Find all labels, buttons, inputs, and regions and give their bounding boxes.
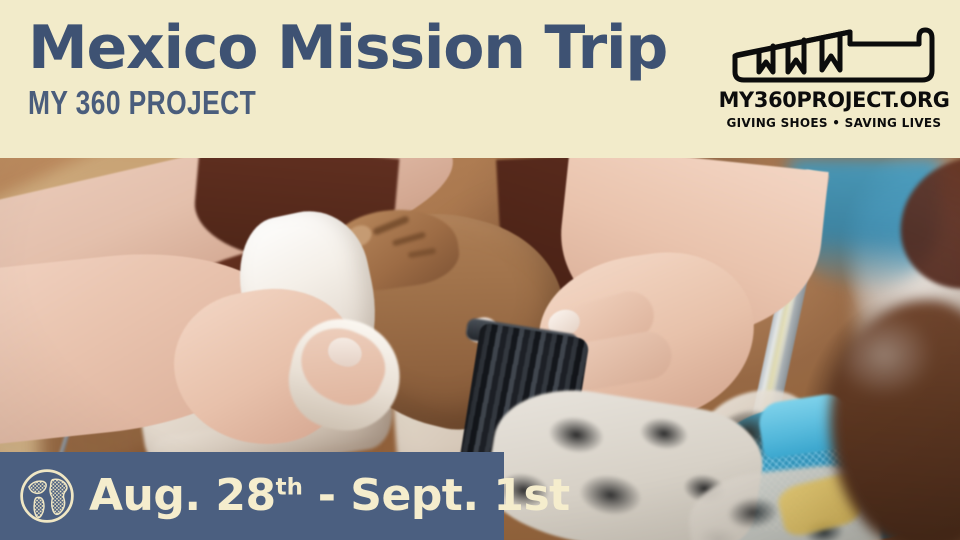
logo-tagline-text: GIVING SHOES • SAVING LIVES <box>727 115 942 130</box>
globe-icon <box>18 467 76 525</box>
shoe-outline-logo-icon <box>726 14 942 86</box>
organization-subtitle: MY 360 PROJECT <box>28 86 585 119</box>
date-start-ordinal: th <box>276 474 303 500</box>
date-start: Aug. 28 <box>89 470 276 521</box>
header-band: Mexico Mission Trip MY 360 PROJECT <box>0 0 960 158</box>
date-separator: - <box>303 470 350 521</box>
date-end: Sept. 1st <box>350 470 569 521</box>
page-title: Mexico Mission Trip <box>28 18 724 78</box>
date-banner: Aug. 28th - Sept. 1st <box>0 452 504 540</box>
organization-logo: MY360PROJECT.ORG GIVING SHOES • SAVING L… <box>724 0 960 130</box>
header-text-group: Mexico Mission Trip MY 360 PROJECT <box>0 0 724 119</box>
date-range-text: Aug. 28th - Sept. 1st <box>89 474 570 518</box>
poster: Mexico Mission Trip MY 360 PROJECT <box>0 0 960 540</box>
logo-url-text: MY360PROJECT.ORG <box>718 88 949 113</box>
